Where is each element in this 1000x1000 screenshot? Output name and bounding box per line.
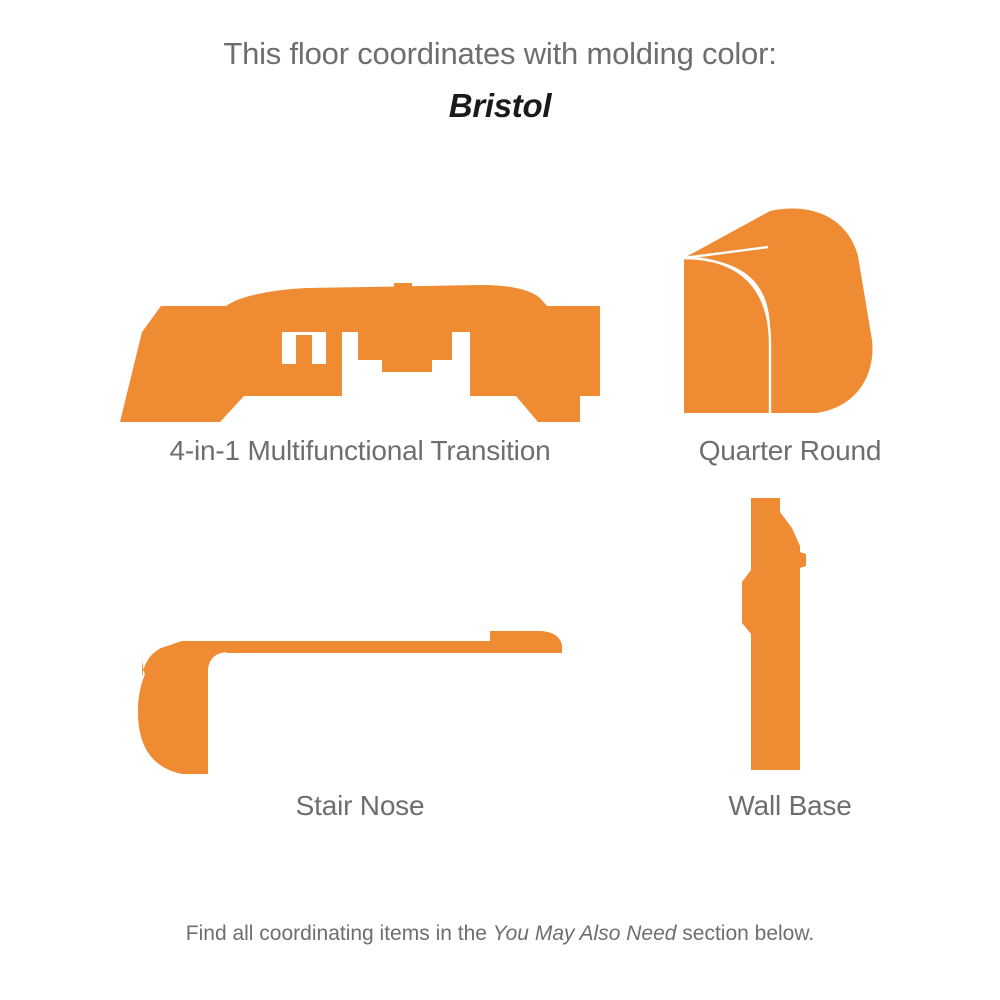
quarter-round-shape — [640, 200, 940, 435]
wall-base-illustration — [640, 490, 940, 790]
product-cell-wall-base: Wall Base — [640, 490, 940, 822]
product-label-transition: 4-in-1 Multifunctional Transition — [60, 435, 660, 467]
stair-nose-top-lip — [182, 631, 562, 653]
4-in-1-multifunctional-transition-shape — [60, 200, 660, 435]
product-cell-quarter-round: Quarter Round — [640, 200, 940, 467]
footer-prefix: Find all coordinating items in the — [186, 922, 493, 945]
product-label-stair-nose: Stair Nose — [60, 790, 660, 822]
header: This floor coordinates with molding colo… — [0, 34, 1000, 126]
molding-coordination-panel: This floor coordinates with molding colo… — [0, 0, 1000, 1000]
stair-nose-shape — [60, 490, 660, 790]
product-label-quarter-round: Quarter Round — [640, 435, 940, 467]
molding-color-name: Bristol — [0, 86, 1000, 126]
wall-base-shape — [640, 490, 940, 790]
product-cell-transition: 4-in-1 Multifunctional Transition — [60, 200, 660, 467]
stair-nose-illustration — [60, 490, 660, 790]
footer-suffix: section below. — [676, 922, 814, 945]
transition-illustration — [60, 200, 660, 435]
transition-right-section — [470, 306, 600, 422]
stair-nose-bullnose — [138, 641, 490, 774]
product-cell-stair-nose: Stair Nose — [60, 490, 660, 822]
footer-emphasis: You May Also Need — [493, 922, 677, 945]
product-label-wall-base: Wall Base — [640, 790, 940, 822]
page-title: This floor coordinates with molding colo… — [0, 34, 1000, 74]
quarter-round-illustration — [640, 200, 940, 435]
footer-note: Find all coordinating items in the You M… — [0, 920, 1000, 948]
wall-base-profile-outline — [742, 498, 806, 770]
